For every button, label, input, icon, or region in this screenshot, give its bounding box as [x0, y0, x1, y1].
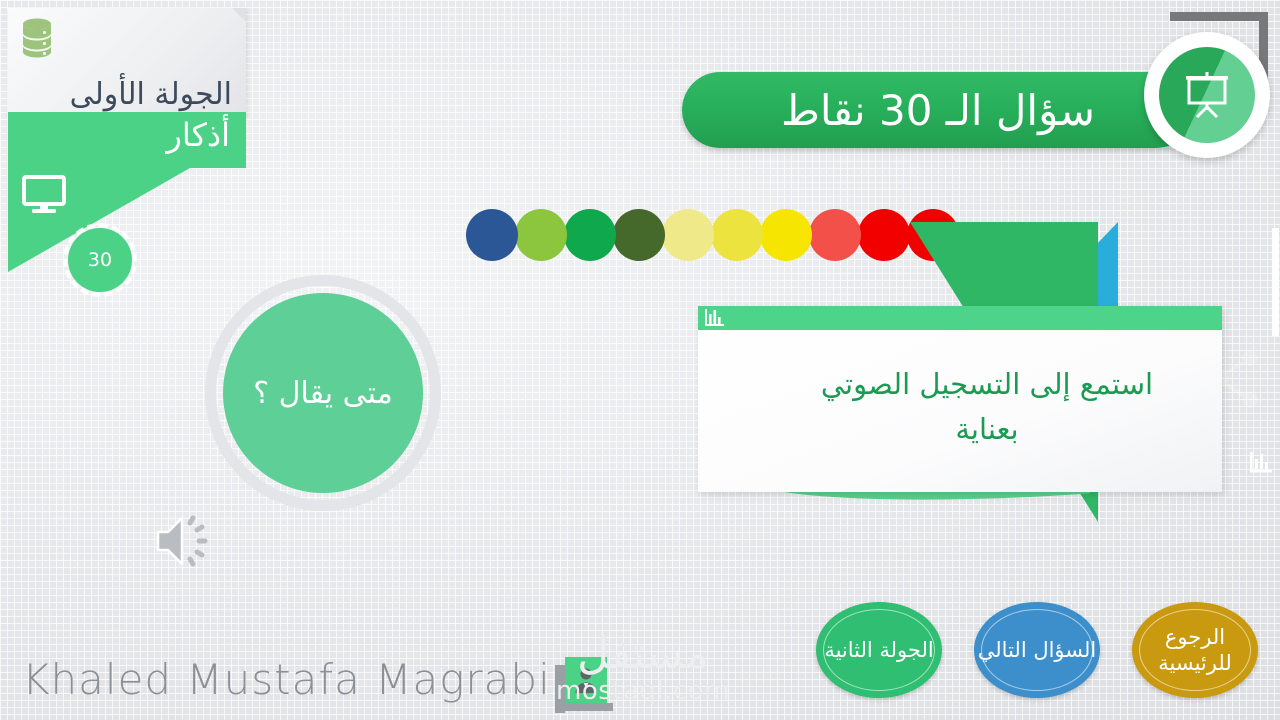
question-circle: متى يقال ؟: [223, 293, 423, 493]
question-text: متى يقال ؟: [253, 374, 393, 413]
back-to-home-button-label: الرجوع للرئيسية: [1132, 624, 1258, 677]
points-value: 30: [88, 249, 112, 271]
presentation-board-icon: [1184, 71, 1230, 119]
bar-chart-icon: [704, 309, 726, 333]
instruction-card-body: استمع إلى التسجيل الصوتي بعناية: [698, 330, 1222, 492]
instruction-card-header: [698, 306, 1222, 330]
mostaql-watermark: مستقل mostaql.com: [556, 632, 730, 706]
points-badge: 30: [68, 228, 132, 292]
dot-navy: [466, 209, 518, 261]
color-dots-row: [466, 209, 956, 261]
bar-chart-icon: [1248, 450, 1274, 480]
dot-olive: [613, 209, 665, 261]
dot-yellow-2: [711, 209, 763, 261]
second-round-button[interactable]: الجولة الثانية: [816, 602, 942, 698]
action-buttons-row: الرجوع للرئيسيةالسؤال التاليالجولة الثان…: [816, 602, 1258, 698]
author-name: Khaled Mustafa Magrabi: [22, 655, 551, 704]
instruction-card: استمع إلى التسجيل الصوتي بعناية: [698, 306, 1222, 492]
dot-red-2: [858, 209, 910, 261]
question-banner: سؤال الـ 30 نقاط: [682, 72, 1194, 148]
dot-emerald: [564, 209, 616, 261]
category-band: أذكار: [8, 112, 246, 168]
back-to-home-button[interactable]: الرجوع للرئيسية: [1132, 602, 1258, 698]
watermark-english: mostaql.com: [556, 676, 730, 706]
author-footer: Khaled Mustafa Magrabi: [22, 655, 607, 704]
banner-title: سؤال الـ 30 نقاط: [781, 86, 1095, 135]
speaker-audio-icon[interactable]: [152, 512, 214, 574]
database-icon: [20, 18, 54, 62]
watermark-arabic: مستقل: [556, 632, 730, 676]
round-tag-card: الجولة الأولى: [8, 8, 246, 116]
quiz-slide: الجولة الأولى أذكار 30 سؤال الـ 30 نقاط: [0, 0, 1280, 720]
presentation-knob-inner: [1159, 47, 1255, 143]
dot-coral: [809, 209, 861, 261]
question-circle-wrapper: متى يقال ؟: [205, 275, 441, 511]
presentation-knob[interactable]: [1144, 32, 1270, 158]
round-title: الجولة الأولى: [70, 77, 232, 112]
dot-yellow-3: [662, 209, 714, 261]
dot-lime: [515, 209, 567, 261]
instruction-text: استمع إلى التسجيل الصوتي بعناية: [808, 362, 1166, 452]
next-question-button[interactable]: السؤال التالي: [974, 602, 1100, 698]
graphic-white-bar: [1272, 228, 1279, 336]
dot-yellow-1: [760, 209, 812, 261]
monitor-icon: [22, 175, 66, 219]
category-label: أذكار: [166, 116, 230, 154]
second-round-button-label: الجولة الثانية: [824, 637, 933, 663]
next-question-button-label: السؤال التالي: [978, 637, 1096, 663]
